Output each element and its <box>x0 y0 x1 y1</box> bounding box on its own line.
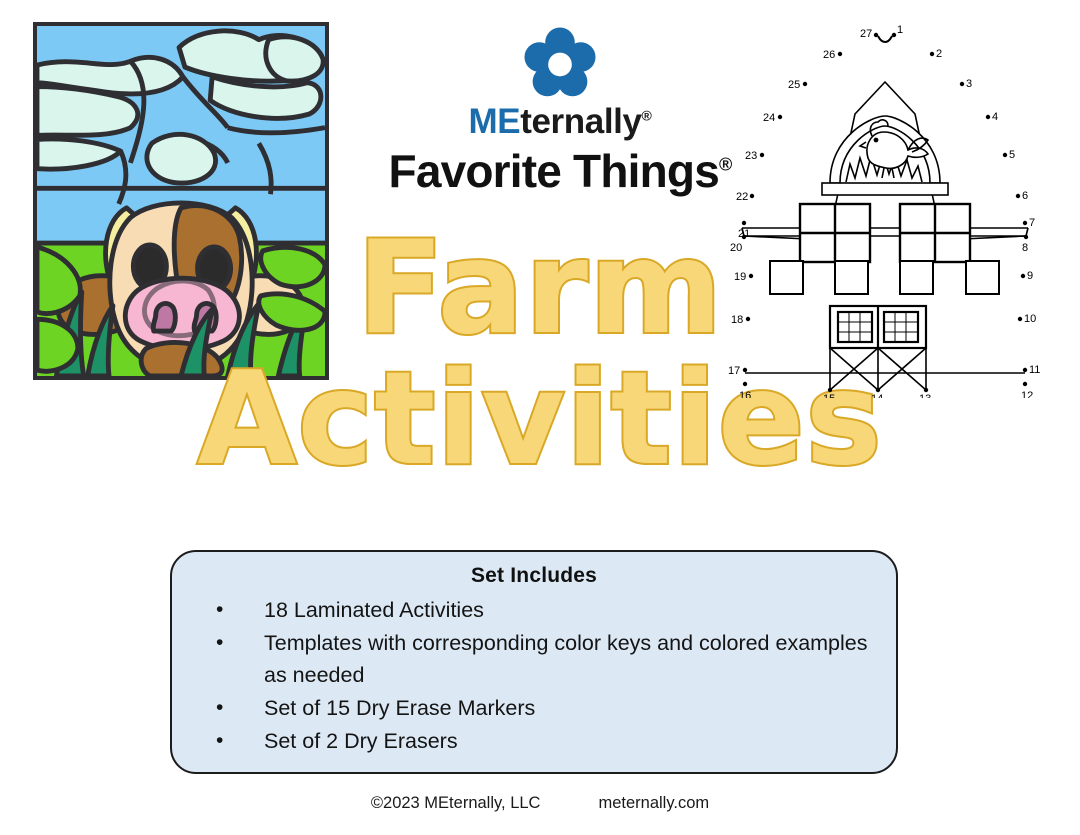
set-includes-box: Set Includes • 18 Laminated Activities •… <box>170 550 898 774</box>
set-includes-heading: Set Includes <box>198 564 870 588</box>
footer: ©2023 MEternally, LLCmeternally.com <box>0 794 1080 813</box>
set-includes-list: • 18 Laminated Activities • Templates wi… <box>198 594 870 757</box>
svg-text:5: 5 <box>1009 149 1015 161</box>
svg-text:9: 9 <box>1027 270 1033 282</box>
website-text: meternally.com <box>598 794 709 812</box>
svg-text:16: 16 <box>739 390 751 398</box>
svg-text:10: 10 <box>1024 313 1036 325</box>
svg-text:3: 3 <box>966 78 972 90</box>
bullet-glyph: • <box>216 594 223 626</box>
svg-text:23: 23 <box>745 150 757 162</box>
apex-connector <box>878 36 892 42</box>
svg-text:8: 8 <box>1022 242 1028 254</box>
brand-name-prefix: ME <box>469 102 521 141</box>
svg-text:19: 19 <box>734 271 746 283</box>
list-item: • 18 Laminated Activities <box>198 594 870 627</box>
cow-illustration <box>37 26 325 376</box>
bullet-glyph: • <box>216 692 223 724</box>
copyright-text: ©2023 MEternally, LLC <box>371 794 541 812</box>
svg-text:21: 21 <box>738 228 750 240</box>
registered-mark: ® <box>642 107 652 123</box>
svg-text:15: 15 <box>823 393 835 398</box>
svg-text:1: 1 <box>897 24 903 36</box>
svg-text:18: 18 <box>731 314 743 326</box>
svg-text:25: 25 <box>788 79 800 91</box>
barn-illustration: 1 2 3 4 5 6 7 8 9 10 11 12 13 14 15 16 1… <box>700 18 1070 398</box>
svg-text:13: 13 <box>919 393 931 398</box>
list-item: • Templates with corresponding color key… <box>198 627 870 692</box>
svg-text:4: 4 <box>992 111 998 123</box>
brand-name-suffix: ternally <box>520 102 641 141</box>
bullet-glyph: • <box>216 725 223 757</box>
stained-glass-cow-image <box>33 22 329 380</box>
dot-to-dot-barn-image: 1 2 3 4 5 6 7 8 9 10 11 12 13 14 15 16 1… <box>700 18 1070 398</box>
svg-text:14: 14 <box>871 393 883 398</box>
brand-tagline-text: Favorite Things <box>389 145 720 197</box>
list-item: • Set of 15 Dry Erase Markers <box>198 692 870 725</box>
svg-text:2: 2 <box>936 48 942 60</box>
svg-text:22: 22 <box>736 191 748 203</box>
list-item-label: Set of 15 Dry Erase Markers <box>264 696 535 720</box>
svg-text:6: 6 <box>1022 190 1028 202</box>
svg-text:12: 12 <box>1021 390 1033 398</box>
svg-text:7: 7 <box>1029 217 1035 229</box>
list-item-label: Set of 2 Dry Erasers <box>264 729 458 753</box>
flower-icon <box>523 26 597 100</box>
product-page: MEternally® Favorite Things® Farm Activi… <box>0 0 1080 835</box>
svg-text:24: 24 <box>763 112 775 124</box>
bullet-glyph: • <box>216 627 223 659</box>
list-item: • Set of 2 Dry Erasers <box>198 725 870 758</box>
list-item-label: 18 Laminated Activities <box>264 598 484 622</box>
svg-text:20: 20 <box>730 242 742 254</box>
svg-text:27: 27 <box>860 28 872 40</box>
list-item-label: Templates with corresponding color keys … <box>264 631 868 688</box>
svg-text:17: 17 <box>728 365 740 377</box>
svg-text:11: 11 <box>1029 364 1040 376</box>
svg-text:26: 26 <box>823 49 835 61</box>
